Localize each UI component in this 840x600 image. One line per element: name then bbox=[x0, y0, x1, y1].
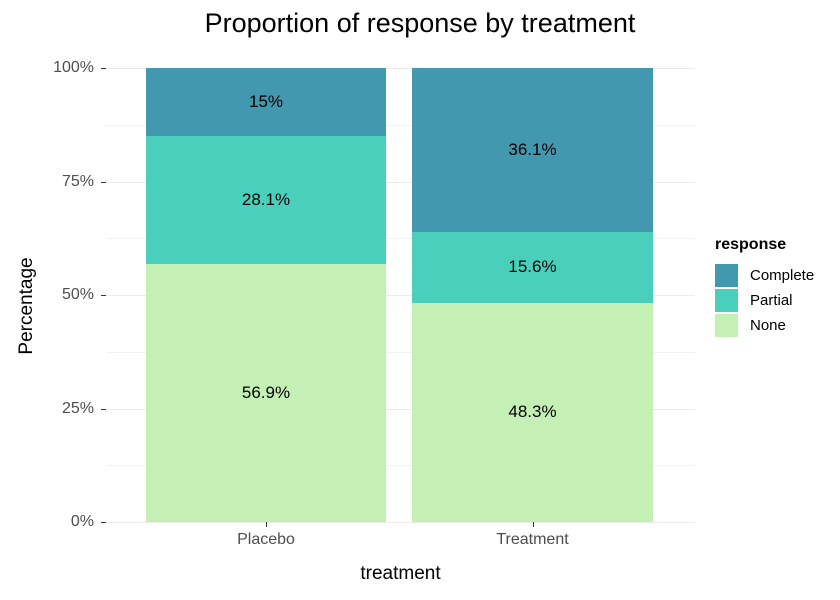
bar-segment-value-label: 15.6% bbox=[508, 257, 556, 277]
plot-area: 15%28.1%56.9%36.1%15.6%48.3% bbox=[106, 68, 695, 522]
y-axis-tick-label: 0% bbox=[71, 513, 94, 531]
legend-item-none[interactable]: None bbox=[715, 313, 835, 338]
x-axis-title: treatment bbox=[106, 563, 695, 585]
bar-segment-none[interactable]: 48.3% bbox=[412, 303, 653, 522]
legend-items: CompletePartialNone bbox=[715, 263, 835, 338]
legend-label: Partial bbox=[750, 292, 793, 309]
y-axis-tick-label: 100% bbox=[53, 59, 94, 77]
bar-segment-partial[interactable]: 15.6% bbox=[412, 232, 653, 303]
legend-item-complete[interactable]: Complete bbox=[715, 263, 835, 288]
legend-swatch-complete bbox=[715, 264, 738, 287]
legend: response CompletePartialNone bbox=[715, 236, 835, 338]
legend-swatch-partial bbox=[715, 289, 738, 312]
x-axis-tick-label: Placebo bbox=[237, 531, 295, 549]
gridline-major bbox=[106, 522, 695, 523]
bar-segment-complete[interactable]: 15% bbox=[146, 68, 386, 136]
x-axis-tick-label: Treatment bbox=[496, 531, 568, 549]
legend-title: response bbox=[715, 236, 835, 254]
legend-item-partial[interactable]: Partial bbox=[715, 288, 835, 313]
y-axis-tick-label: 50% bbox=[62, 286, 94, 304]
bar-segment-none[interactable]: 56.9% bbox=[146, 264, 386, 522]
legend-label: Complete bbox=[750, 267, 814, 284]
bar-segment-complete[interactable]: 36.1% bbox=[412, 68, 653, 232]
x-axis-tick-mark bbox=[266, 522, 267, 527]
bar-segment-value-label: 15% bbox=[249, 92, 283, 112]
bar-segment-value-label: 56.9% bbox=[242, 383, 290, 403]
x-axis-tick-mark bbox=[533, 522, 534, 527]
y-axis-tick-label: 25% bbox=[62, 400, 94, 418]
bar-segment-value-label: 28.1% bbox=[242, 190, 290, 210]
legend-label: None bbox=[750, 317, 786, 334]
bar-segment-partial[interactable]: 28.1% bbox=[146, 136, 386, 264]
y-axis-title: Percentage bbox=[16, 186, 38, 426]
bar-group-treatment: 36.1%15.6%48.3% bbox=[412, 68, 653, 522]
y-axis-tick-label: 75% bbox=[62, 173, 94, 191]
chart-container: Proportion of response by treatment Perc… bbox=[0, 0, 840, 600]
bar-group-placebo: 15%28.1%56.9% bbox=[146, 68, 386, 522]
legend-swatch-none bbox=[715, 314, 738, 337]
chart-title: Proportion of response by treatment bbox=[0, 6, 840, 40]
bar-segment-value-label: 48.3% bbox=[508, 402, 556, 422]
bar-segment-value-label: 36.1% bbox=[508, 140, 556, 160]
